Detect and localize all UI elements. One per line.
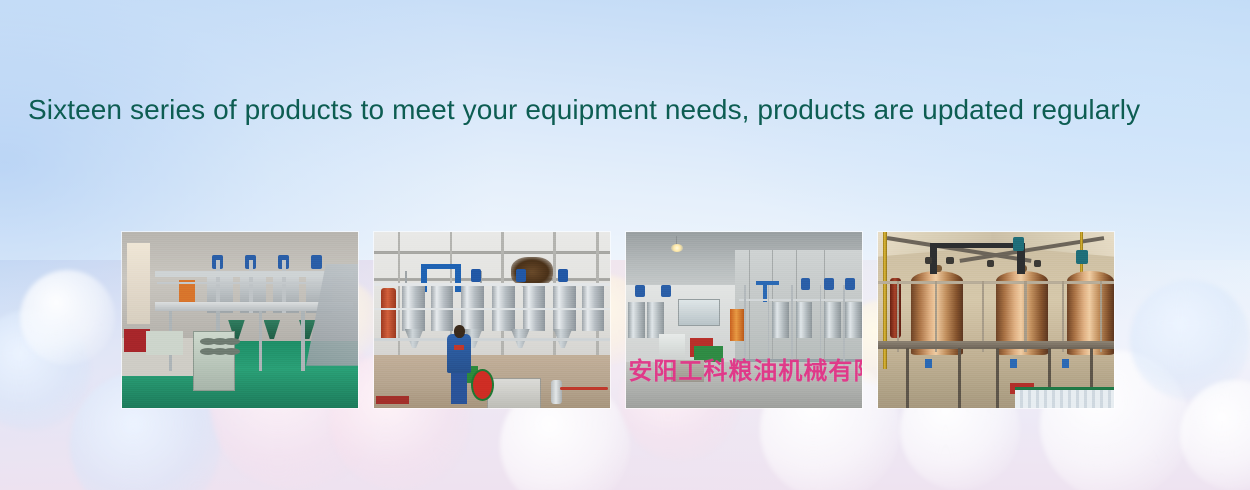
gallery-item-1[interactable] <box>122 232 358 408</box>
promo-banner: Sixteen series of products to meet your … <box>0 0 1250 490</box>
page-title: Sixteen series of products to meet your … <box>28 88 1228 132</box>
photo-refinery-hall-watermarked: 安阳工科粮油机械有限公司 <box>626 232 862 408</box>
photo-oil-refinery-line-green-floor <box>122 232 358 408</box>
photo-worker-at-refining-tanks <box>374 232 610 408</box>
photo-copper-refining-tanks <box>878 232 1114 408</box>
image-watermark: 安阳工科粮油机械有限公司 <box>628 359 862 383</box>
gallery-item-4[interactable] <box>878 232 1114 408</box>
gallery-item-2[interactable] <box>374 232 610 408</box>
product-photo-gallery: 安阳工科粮油机械有限公司 <box>122 232 1114 408</box>
gallery-item-3[interactable]: 安阳工科粮油机械有限公司 <box>626 232 862 408</box>
